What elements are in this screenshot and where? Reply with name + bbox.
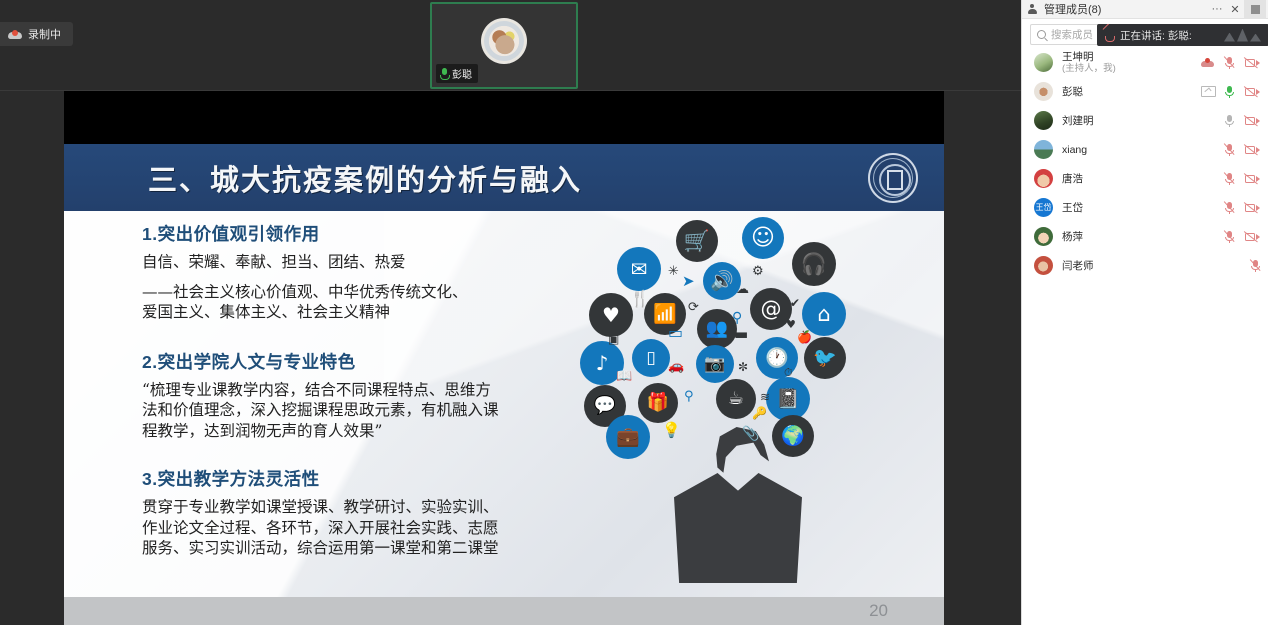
search-icon — [1037, 30, 1046, 39]
avatar — [1034, 169, 1053, 188]
participant-status-icons — [1251, 260, 1260, 272]
section-line: 自信、荣耀、奉献、担当、团结、热爱 — [142, 252, 572, 273]
participant-name: 闫老师 — [1062, 260, 1094, 272]
record-cloud-icon[interactable] — [1201, 58, 1214, 68]
mic-icon[interactable] — [1225, 86, 1234, 98]
mic-muted-icon[interactable] — [1225, 202, 1234, 214]
mic-muted-icon[interactable] — [1251, 260, 1260, 272]
section-body: “梳理专业课教学内容，结合不同课程特点、思维方 法和价值理念，深入挖掘课程思政元… — [142, 380, 572, 442]
slide-section-2: 2.突出学院人文与专业特色 “梳理专业课教学内容，结合不同课程特点、思维方 法和… — [142, 349, 572, 442]
wifi-small-icon: ≋ — [760, 391, 770, 403]
share-screen-icon[interactable] — [1201, 86, 1214, 97]
avatar: 王岱 — [1034, 198, 1053, 217]
camera-muted-icon[interactable] — [1245, 202, 1260, 213]
participant-name-wrap: 闫老师 — [1062, 260, 1094, 272]
mic-icon[interactable] — [1225, 115, 1234, 127]
cart-icon: 🛒 — [676, 220, 718, 262]
avatar — [1034, 82, 1053, 101]
briefcase-icon: 💼 — [606, 415, 650, 459]
icon-cloud-head-graphic: 🛒 ☺ ✉ 🎧 🔊 ✳ ➤ ⚙ ☁ ♥ 📶 @ ⌂ 🍴 ⟳ ⚲ ✔ — [564, 215, 894, 615]
slide-section-3: 3.突出教学方法灵活性 贯穿于专业教学如课堂授课、教学研讨、实验实训、 作业论文… — [142, 466, 572, 559]
section-line: “梳理专业课教学内容，结合不同课程特点、思维方 — [142, 380, 572, 401]
section-heading: 1.突出价值观引领作用 — [142, 221, 572, 246]
video-strip: 录制中 彭聪 — [0, 0, 1021, 91]
close-icon[interactable]: ✕ — [1226, 0, 1244, 19]
minimize-icon[interactable] — [1244, 0, 1266, 19]
gear-icon: ⚙ — [752, 265, 764, 278]
section-line: 法和价值理念，深入挖掘课程思政元素，有机融入课 — [142, 400, 572, 421]
section-heading: 2.突出学院人文与专业特色 — [142, 349, 572, 374]
avatar — [481, 18, 527, 64]
car-icon: 🚗 — [668, 360, 684, 373]
participant-name-wrap: 唐浩 — [1062, 173, 1083, 185]
laptop-icon: ▭ — [668, 325, 683, 341]
slide-page-number: 20 — [869, 601, 888, 621]
participant-status-icons — [1225, 115, 1260, 127]
section-body: 自信、荣耀、奉献、担当、团结、热爱 ——社会主义核心价值观、中华优秀传统文化、 … — [142, 252, 572, 323]
sun-icon: ✳ — [668, 265, 679, 278]
slide-top-band — [64, 91, 944, 144]
speaking-now-banner: 正在讲话: 彭聪: — [1097, 24, 1268, 46]
participant-name-wrap: 彭聪 — [1062, 86, 1083, 98]
pin-small-icon: ⚲ — [684, 390, 694, 403]
record-cloud-icon — [8, 29, 22, 39]
participants-panel: 管理成员(8) ··· ✕ 搜索成员 正在讲话: 彭聪: 王坤明(主持人，我)彭… — [1021, 0, 1268, 625]
list-item[interactable]: 王坤明(主持人，我) — [1022, 48, 1268, 77]
globe-icon: 🌍 — [772, 415, 814, 457]
list-item[interactable]: xiang — [1022, 135, 1268, 164]
section-line: 贯穿于专业教学如课堂授课、教学研讨、实验实训、 — [142, 497, 572, 518]
key-icon: 🔑 — [752, 407, 767, 419]
presentation-slide: 三、城大抗疫案例的分析与融入 1.突出价值观引领作用 自信、荣耀、奉献、担当、团… — [64, 91, 944, 625]
fork-knife-icon: 🍴 — [630, 291, 650, 307]
person-hair — [709, 427, 769, 479]
participant-status-icons — [1201, 57, 1260, 69]
panel-title: 管理成员(8) — [1044, 1, 1101, 17]
section-line: 爱国主义、集体主义、社会主义精神 — [142, 302, 572, 323]
section-heading: 3.突出教学方法灵活性 — [142, 466, 572, 491]
mic-muted-icon[interactable] — [1225, 173, 1234, 185]
panel-header: 管理成员(8) ··· ✕ — [1022, 0, 1268, 19]
section-line: 服务、实习实训活动，综合运用第一课堂和第二课堂 — [142, 538, 572, 559]
slide-title-bar: 三、城大抗疫案例的分析与融入 — [64, 144, 944, 211]
participant-name: 王岱 — [1062, 202, 1083, 214]
list-item[interactable]: 刘建明 — [1022, 106, 1268, 135]
butterfly-icon: ✼ — [738, 361, 748, 373]
avatar — [1034, 111, 1053, 130]
participant-status-icons — [1225, 144, 1260, 156]
list-item[interactable]: 唐浩 — [1022, 164, 1268, 193]
book-icon: 📖 — [616, 370, 632, 383]
panel-header-right: ··· ✕ — [1208, 0, 1266, 19]
heart-small-icon: ♥ — [786, 319, 796, 330]
rain-cloud-icon: ☁ — [736, 283, 749, 296]
participant-status-icons — [1225, 202, 1260, 214]
avatar — [1034, 140, 1053, 159]
mic-muted-icon — [1105, 30, 1113, 41]
participant-name-wrap: 王坤明(主持人，我) — [1062, 51, 1116, 75]
avatar — [1034, 53, 1053, 72]
apple-icon: 🍎 — [797, 331, 812, 343]
mic-muted-icon[interactable] — [1225, 57, 1234, 69]
more-dots-icon[interactable]: ··· — [1208, 0, 1226, 19]
heart-icon: ♥ — [589, 293, 633, 337]
refresh-icon: ⟳ — [688, 301, 699, 314]
mic-muted-icon[interactable] — [1225, 144, 1234, 156]
section-body: 贯穿于专业教学如课堂授课、教学研讨、实验实训、 作业论文全过程、各环节，深入开展… — [142, 497, 572, 559]
participant-role: (主持人，我) — [1062, 63, 1116, 75]
slide-text-column: 1.突出价值观引领作用 自信、荣耀、奉献、担当、团结、热爱 ——社会主义核心价值… — [142, 221, 572, 559]
camera-muted-icon[interactable] — [1245, 115, 1260, 126]
avatar — [1034, 227, 1053, 246]
participant-name: 彭聪 — [1062, 86, 1083, 98]
check-icon: ✔ — [790, 297, 800, 309]
person-silhouette — [674, 473, 802, 583]
participant-name-wrap: 杨萍 — [1062, 231, 1083, 243]
chat-bubble-icon: ▬ — [734, 327, 748, 342]
search-row: 搜索成员 正在讲话: 彭聪: — [1022, 19, 1268, 49]
panel-header-left: 管理成员(8) — [1028, 1, 1101, 17]
participant-status-icons — [1201, 86, 1260, 98]
recording-indicator[interactable]: 录制中 — [0, 22, 73, 46]
camera-muted-icon[interactable] — [1245, 57, 1260, 68]
people-icon — [1028, 4, 1039, 14]
participants-list[interactable]: 王坤明(主持人，我)彭聪刘建明xiang唐浩王岱王岱杨萍闫老师 — [1022, 48, 1268, 625]
slide-section-1: 1.突出价值观引领作用 自信、荣耀、奉献、担当、团结、热爱 ——社会主义核心价值… — [142, 221, 572, 323]
speaking-now-label: 正在讲话: 彭聪: — [1120, 28, 1192, 43]
recording-label: 录制中 — [28, 26, 61, 42]
slide-body: 1.突出价值观引领作用 自信、荣耀、奉献、担当、团结、热爱 ——社会主义核心价值… — [64, 211, 944, 625]
shared-screen-area[interactable]: 三、城大抗疫案例的分析与融入 1.突出价值观引领作用 自信、荣耀、奉献、担当、团… — [0, 91, 1021, 625]
participant-name: 唐浩 — [1062, 173, 1083, 185]
participant-name-wrap: 刘建明 — [1062, 115, 1094, 127]
bird-icon: 🐦 — [804, 337, 846, 379]
camera-muted-icon[interactable] — [1245, 231, 1260, 242]
video-name-chip: 彭聪 — [436, 64, 478, 83]
participant-name-wrap: 王岱 — [1062, 202, 1083, 214]
section-line: 作业论文全过程、各环节，深入开展社会实践、志愿 — [142, 518, 572, 539]
list-item[interactable]: 王岱王岱 — [1022, 193, 1268, 222]
active-speaker-video-tile[interactable]: 彭聪 — [430, 2, 578, 89]
section-line: 程教学，达到润物无声的育人效果” — [142, 421, 572, 442]
spacer — [142, 273, 572, 282]
search-placeholder: 搜索成员 — [1051, 27, 1093, 42]
mail-icon: ✉ — [617, 247, 661, 291]
box-icon: ▣ — [608, 333, 619, 345]
users-icon: 👥 — [697, 309, 737, 349]
audio-wave-icon — [1224, 29, 1261, 42]
page-title: 三、城大抗疫案例的分析与融入 — [148, 157, 582, 199]
mic-on-icon — [440, 68, 448, 79]
headphones-icon: 🎧 — [792, 242, 836, 286]
mic-muted-icon[interactable] — [1225, 231, 1234, 243]
smiley-icon: ☺ — [742, 217, 784, 259]
video-participant-name: 彭聪 — [452, 66, 472, 81]
slide-footer: 20 — [64, 597, 944, 625]
list-item[interactable]: 闫老师 — [1022, 251, 1268, 280]
list-item[interactable]: 杨萍 — [1022, 222, 1268, 251]
bulb-icon: 💡 — [662, 423, 681, 438]
camera-muted-icon[interactable] — [1245, 173, 1260, 184]
camera-muted-icon[interactable] — [1245, 86, 1260, 97]
participant-status-icons — [1225, 231, 1260, 243]
participant-name-wrap: xiang — [1062, 144, 1087, 156]
participant-status-icons — [1225, 173, 1260, 185]
phone-icon: ▯ — [632, 339, 670, 377]
section-line: ——社会主义核心价值观、中华优秀传统文化、 — [142, 282, 572, 303]
gift-icon: 🎁 — [638, 383, 678, 423]
send-icon: ➤ — [682, 274, 695, 289]
participant-name: xiang — [1062, 144, 1087, 156]
paperclip-icon: 📎 — [742, 427, 759, 441]
meeting-stage: 录制中 彭聪 三、城大抗疫案例的分析与融入 1.突出价值观引领作用 — [0, 0, 1021, 625]
university-seal-icon — [868, 153, 918, 203]
participant-name: 王坤明 — [1062, 51, 1116, 63]
participant-name: 杨萍 — [1062, 231, 1083, 243]
list-item[interactable]: 彭聪 — [1022, 77, 1268, 106]
coffee-icon: ☕ — [716, 379, 756, 419]
avatar — [1034, 256, 1053, 275]
participant-name: 刘建明 — [1062, 115, 1094, 127]
camera-icon: 📷 — [696, 345, 734, 383]
camera-muted-icon[interactable] — [1245, 144, 1260, 155]
